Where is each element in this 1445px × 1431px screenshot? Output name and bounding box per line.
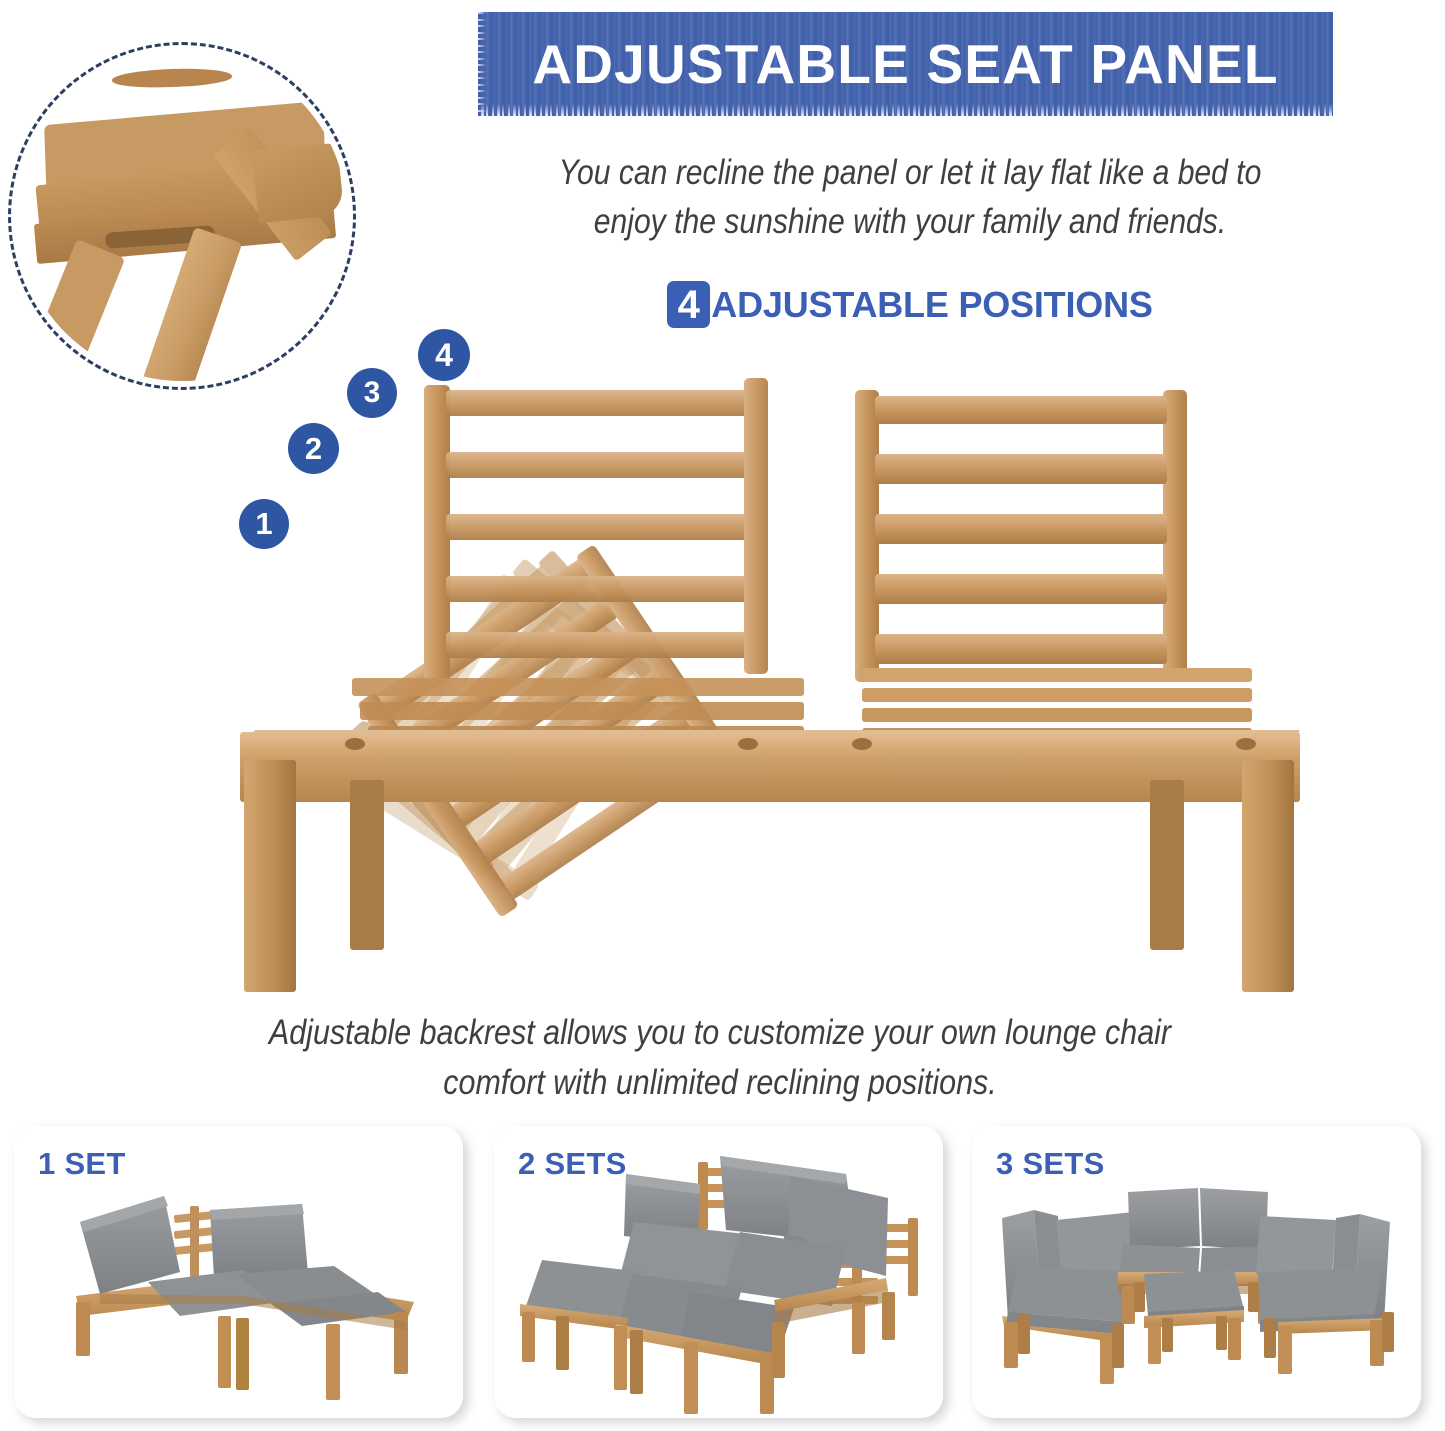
bolt-hole xyxy=(738,738,758,750)
bench-seat-platform xyxy=(240,668,1300,802)
set-configuration-cards: 1 SET xyxy=(0,1126,1445,1426)
leg-back-right xyxy=(1150,780,1184,950)
header-banner: ADJUSTABLE SEAT PANEL xyxy=(478,12,1333,116)
center-back-cushion-left xyxy=(1128,1188,1200,1250)
right-backrest xyxy=(855,390,1187,682)
set-card-2-label: 2 SETS xyxy=(518,1146,627,1182)
adjustable-positions-heading: 4 ADJUSTABLE POSITIONS xyxy=(470,281,1350,328)
wood-sliver xyxy=(112,67,233,89)
page-title: ADJUSTABLE SEAT PANEL xyxy=(532,32,1278,96)
leg-front-left xyxy=(244,760,296,992)
leg-front-right xyxy=(1242,760,1294,992)
bolt-hole xyxy=(345,738,365,750)
set-card-2[interactable]: 2 SETS xyxy=(494,1126,943,1418)
bolt-hole xyxy=(852,738,872,750)
position-marker-1[interactable]: 1 xyxy=(239,499,289,549)
position-marker-2[interactable]: 2 xyxy=(288,423,339,474)
positions-heading-label: ADJUSTABLE POSITIONS xyxy=(711,284,1152,326)
set-card-1-label: 1 SET xyxy=(38,1146,126,1182)
wood-corner-block xyxy=(251,143,344,224)
leg-back-left xyxy=(350,780,384,950)
center-back-cushion-right xyxy=(1200,1188,1268,1250)
subtitle-text: You can recline the panel or let it lay … xyxy=(532,148,1289,246)
seat-front-apron xyxy=(240,754,1300,802)
positions-count-badge: 4 xyxy=(667,281,710,328)
set-card-3[interactable]: 3 SETS xyxy=(972,1126,1421,1418)
set-card-3-label: 3 SETS xyxy=(996,1146,1105,1182)
bottom-caption: Adjustable backrest allows you to custom… xyxy=(233,1008,1207,1108)
position-marker-3[interactable]: 3 xyxy=(347,368,397,418)
position-marker-4[interactable]: 4 xyxy=(418,329,470,381)
main-product-illustration xyxy=(0,330,1445,1020)
set-card-1[interactable]: 1 SET xyxy=(14,1126,463,1418)
bolt-hole xyxy=(1236,738,1256,750)
